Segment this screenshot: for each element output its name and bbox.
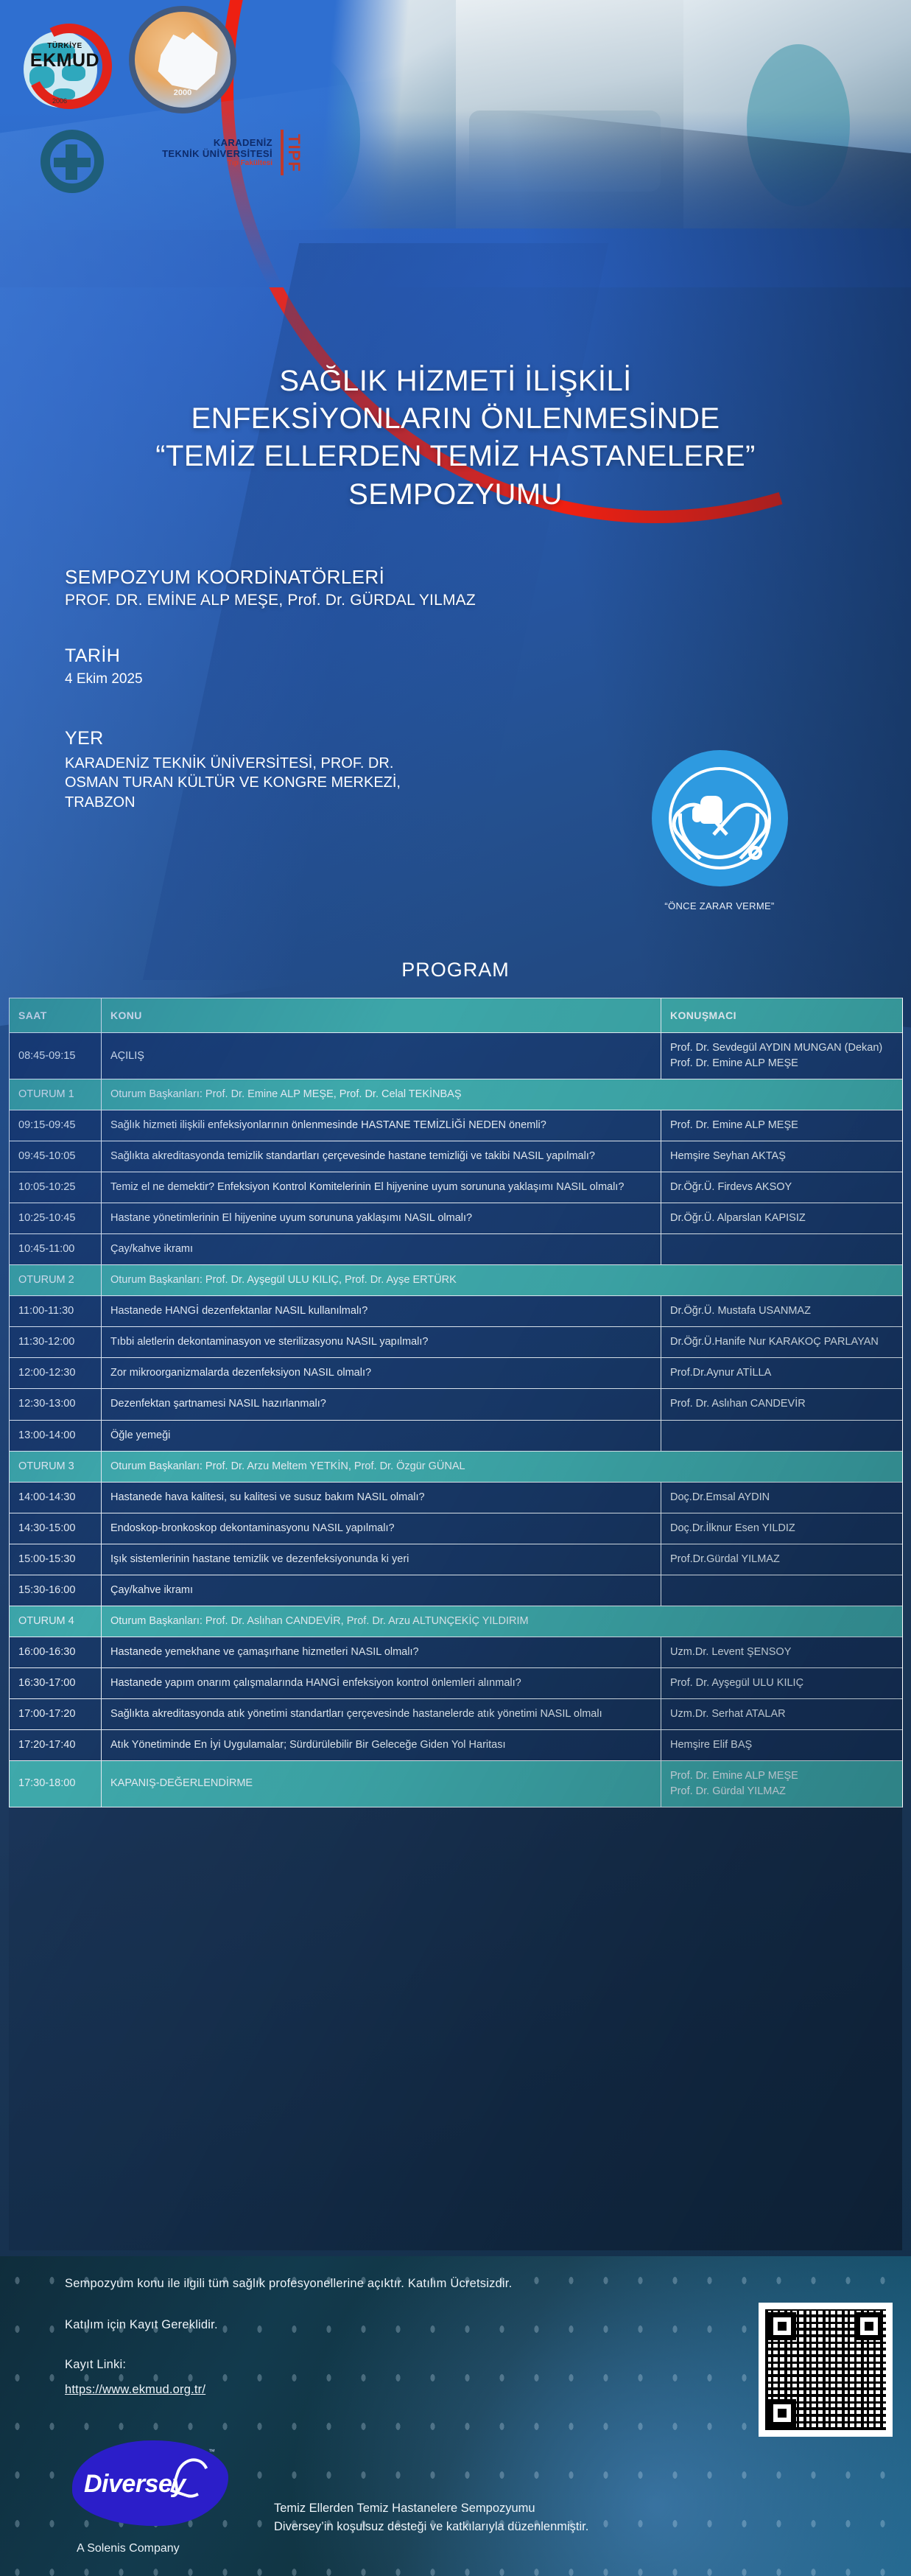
badge-caption: “ÖNCE ZARAR VERME”	[623, 900, 816, 911]
table-row: 14:30-15:00Endoskop-bronkoskop dekontami…	[10, 1513, 903, 1544]
table-row: 14:00-14:30Hastanede hava kalitesi, su k…	[10, 1482, 903, 1513]
cell-speaker: Dr.Öğr.Ü.Hanife Nur KARAKOÇ PARLAYAN	[661, 1327, 903, 1358]
program-table-wrapper: SAAT KONU KONUŞMACI 08:45-09:15AÇILIŞPro…	[9, 998, 902, 1807]
qr-finder-top-left	[768, 2312, 796, 2340]
cell-speaker	[661, 1420, 903, 1451]
cell-time: 16:00-16:30	[10, 1637, 102, 1667]
cell-topic: Hastanede yapım onarım çalışmalarında HA…	[102, 1667, 661, 1698]
handwash-icon	[154, 29, 223, 93]
cell-topic: Öğle yemeği	[102, 1420, 661, 1451]
cell-speaker: Dr.Öğr.Ü. Mustafa USANMAZ	[661, 1296, 903, 1327]
table-row: OTURUM 3Oturum Başkanları: Prof. Dr. Arz…	[10, 1451, 903, 1482]
table-row: 12:00-12:30Zor mikroorganizmalarda dezen…	[10, 1358, 903, 1389]
cell-topic: Zor mikroorganizmalarda dezenfeksiyon NA…	[102, 1358, 661, 1389]
table-row: OTURUM 2Oturum Başkanları: Prof. Dr. Ayş…	[10, 1265, 903, 1296]
date-value: 4 Ekim 2025	[65, 671, 143, 687]
cell-session-chairs: Oturum Başkanları: Prof. Dr. Emine ALP M…	[102, 1079, 903, 1110]
cell-time: 13:00-14:00	[10, 1420, 102, 1451]
title-block: SAĞLIK HİZMETİ İLİŞKİLİ ENFEKSİYONLARIN …	[0, 363, 911, 514]
diversey-logo: ™ Diversey	[72, 2440, 234, 2527]
cell-speaker: Dr.Öğr.Ü. Alparslan KAPISIZ	[661, 1203, 903, 1234]
ktu-line-1: KARADENİZ	[125, 137, 272, 148]
poster-root: TÜRKİYE EKMUD 2006 2000 KARADENİZ TEKNİK…	[0, 0, 911, 2576]
cell-topic: Sağlık hizmeti ilişkili enfeksiyonlarını…	[102, 1110, 661, 1141]
cell-topic: Işık sistemlerinin hastane temizlik ve d…	[102, 1544, 661, 1575]
cell-time: 17:20-17:40	[10, 1729, 102, 1760]
cell-speaker: Uzm.Dr. Serhat ATALAR	[661, 1698, 903, 1729]
cell-topic: Hastanede hava kalitesi, su kalitesi ve …	[102, 1482, 661, 1513]
cell-speaker: Prof.Dr.Aynur ATİLLA	[661, 1358, 903, 1389]
table-row: 12:30-13:00Dezenfektan şartnamesi NASIL …	[10, 1389, 903, 1420]
ekmud-logo-word: EKMUD	[25, 52, 105, 70]
cell-topic: Dezenfektan şartnamesi NASIL hazırlanmal…	[102, 1389, 661, 1420]
cell-speaker: Hemşire Seyhan AKTAŞ	[661, 1141, 903, 1172]
qr-finder-bottom-left	[768, 2399, 796, 2427]
cell-topic: Endoskop-bronkoskop dekontaminasyonu NAS…	[102, 1513, 661, 1544]
ktu-line-2: TEKNİK ÜNİVERSİTESİ	[125, 148, 272, 159]
ktu-divider	[281, 130, 284, 175]
table-row: 16:00-16:30Hastanede yemekhane ve çamaşı…	[10, 1637, 903, 1667]
cell-time: 14:30-15:00	[10, 1513, 102, 1544]
cell-speaker: Prof. Dr. Emine ALP MEŞE Prof. Dr. Gürda…	[661, 1760, 903, 1807]
ekmud-logo-sup: TÜRKİYE	[25, 42, 105, 50]
cell-speaker	[661, 1234, 903, 1265]
ktu-logo-text: KARADENİZ TEKNİK ÜNİVERSİTESİ Tıp Fakült…	[125, 137, 272, 167]
cell-speaker: Prof. Dr. Aslıhan CANDEVİR	[661, 1389, 903, 1420]
table-row: 13:00-14:00Öğle yemeği	[10, 1420, 903, 1451]
table-row: 15:00-15:30Işık sistemlerinin hastane te…	[10, 1544, 903, 1575]
date-label: TARİH	[65, 645, 143, 667]
cell-speaker: Dr.Öğr.Ü. Firdevs AKSOY	[661, 1172, 903, 1203]
diversey-tm-mark: ™	[208, 2448, 215, 2455]
ktu-tipf-mark: TIPF	[284, 134, 303, 172]
cell-topic: Atık Yönetiminde En İyi Uygulamalar; Sür…	[102, 1729, 661, 1760]
cell-time: OTURUM 1	[10, 1079, 102, 1110]
cell-time: 10:25-10:45	[10, 1203, 102, 1234]
cell-time: 15:00-15:30	[10, 1544, 102, 1575]
cell-speaker: Prof.Dr.Gürdal YILMAZ	[661, 1544, 903, 1575]
cell-speaker: Prof. Dr. Emine ALP MEŞE	[661, 1110, 903, 1141]
cell-time: 15:30-16:00	[10, 1575, 102, 1606]
cell-time: 10:45-11:00	[10, 1234, 102, 1265]
cell-time: 17:30-18:00	[10, 1760, 102, 1807]
table-row: 10:05-10:25Temiz el ne demektir? Enfeksi…	[10, 1172, 903, 1203]
cell-time: 09:15-09:45	[10, 1110, 102, 1141]
table-row: 15:30-16:00Çay/kahve ikramı	[10, 1575, 903, 1606]
cell-speaker: Doç.Dr.Emsal AYDIN	[661, 1482, 903, 1513]
cell-speaker: Doç.Dr.İlknur Esen YILDIZ	[661, 1513, 903, 1544]
stethoscope-dot-icon	[748, 846, 762, 860]
venue-label: YER	[65, 728, 411, 749]
ekmud-logo: TÜRKİYE EKMUD 2006	[16, 18, 113, 115]
cell-time: 11:30-12:00	[10, 1327, 102, 1358]
clean-hands-badge	[652, 750, 788, 886]
cell-topic: Sağlıkta akreditasyonda temizlik standar…	[102, 1141, 661, 1172]
cell-speaker: Uzm.Dr. Levent ŞENSOY	[661, 1637, 903, 1667]
ktu-bar2-icon	[54, 158, 91, 167]
coordinators-block: SEMPOZYUM KOORDİNATÖRLERİ PROF. DR. EMİN…	[65, 566, 728, 609]
cell-time: 11:00-11:30	[10, 1296, 102, 1327]
table-row: 17:30-18:00KAPANIŞ-DEĞERLENDİRMEProf. Dr…	[10, 1760, 903, 1807]
cell-time: OTURUM 3	[10, 1451, 102, 1482]
bg-sweep-center	[143, 243, 609, 980]
thikd-logo-year: 2000	[135, 88, 231, 97]
qr-finder-top-right	[855, 2312, 883, 2340]
table-row: OTURUM 1Oturum Başkanları: Prof. Dr. Emi…	[10, 1079, 903, 1110]
footer-open-note: Sempozyum konu ile ilgili tüm sağlık pro…	[65, 2277, 512, 2291]
cell-topic: Hastanede yemekhane ve çamaşırhane hizme…	[102, 1637, 661, 1667]
diversey-wordmark: Diversey	[84, 2470, 186, 2499]
footer-section: Sempozyum konu ile ilgili tüm sağlık pro…	[0, 2256, 911, 2576]
table-row: 08:45-09:15AÇILIŞProf. Dr. Sevdegül AYDI…	[10, 1033, 903, 1079]
table-row: 17:20-17:40Atık Yönetiminde En İyi Uygul…	[10, 1729, 903, 1760]
cell-session-chairs: Oturum Başkanları: Prof. Dr. Aslıhan CAN…	[102, 1606, 903, 1637]
cell-speaker	[661, 1575, 903, 1606]
cell-topic: Temiz el ne demektir? Enfeksiyon Kontrol…	[102, 1172, 661, 1203]
page-title: SAĞLIK HİZMETİ İLİŞKİLİ ENFEKSİYONLARIN …	[0, 363, 911, 514]
sponsor-note: Temiz Ellerden Temiz Hastanelere Sempozy…	[274, 2499, 588, 2536]
cell-speaker: Prof. Dr. Ayşegül ULU KILIÇ	[661, 1667, 903, 1698]
cell-session-chairs: Oturum Başkanları: Prof. Dr. Arzu Meltem…	[102, 1451, 903, 1482]
cell-topic: Hastane yönetimlerinin El hijyenine uyum…	[102, 1203, 661, 1234]
date-block: TARİH 4 Ekim 2025	[65, 645, 143, 687]
program-table-body: 08:45-09:15AÇILIŞProf. Dr. Sevdegül AYDI…	[10, 1033, 903, 1807]
qr-code[interactable]	[759, 2303, 893, 2437]
table-row: 09:45-10:05Sağlıkta akreditasyonda temiz…	[10, 1141, 903, 1172]
column-header-topic: KONU	[102, 998, 661, 1033]
cell-topic: Hastanede HANGİ dezenfektanlar NASIL kul…	[102, 1296, 661, 1327]
cell-topic: Çay/kahve ikramı	[102, 1234, 661, 1265]
cell-topic: AÇILIŞ	[102, 1033, 661, 1079]
footer-link-label: Kayıt Linki:	[65, 2358, 126, 2372]
cell-topic: KAPANIŞ-DEĞERLENDİRME	[102, 1760, 661, 1807]
cell-time: 08:45-09:15	[10, 1033, 102, 1079]
cell-time: OTURUM 4	[10, 1606, 102, 1637]
table-row: 09:15-09:45Sağlık hizmeti ilişkili enfek…	[10, 1110, 903, 1141]
cell-time: 12:00-12:30	[10, 1358, 102, 1389]
venue-block: YER KARADENİZ TEKNİK ÜNİVERSİTESİ, PROF.…	[65, 728, 411, 812]
cell-topic: Tıbbi aletlerin dekontaminasyon ve steri…	[102, 1327, 661, 1358]
ekmud-logo-year: 2006	[25, 97, 94, 105]
venue-value: KARADENİZ TEKNİK ÜNİVERSİTESİ, PROF. DR.…	[65, 754, 411, 812]
table-row: 11:30-12:00Tıbbi aletlerin dekontaminasy…	[10, 1327, 903, 1358]
cell-time: OTURUM 2	[10, 1265, 102, 1296]
cell-time: 10:05-10:25	[10, 1172, 102, 1203]
cell-speaker: Prof. Dr. Sevdegül AYDIN MUNGAN (Dekan) …	[661, 1033, 903, 1079]
table-row: OTURUM 4Oturum Başkanları: Prof. Dr. Asl…	[10, 1606, 903, 1637]
ktu-line-3: Tıp Fakültesi	[125, 159, 272, 167]
cell-session-chairs: Oturum Başkanları: Prof. Dr. Ayşegül ULU…	[102, 1265, 903, 1296]
solenis-tagline: A Solenis Company	[77, 2542, 180, 2555]
cell-topic: Çay/kahve ikramı	[102, 1575, 661, 1606]
cell-time: 14:00-14:30	[10, 1482, 102, 1513]
cell-topic: Sağlıkta akreditasyonda atık yönetimi st…	[102, 1698, 661, 1729]
table-row: 17:00-17:20Sağlıkta akreditasyonda atık …	[10, 1698, 903, 1729]
program-heading: PROGRAM	[0, 959, 911, 981]
table-row: 11:00-11:30Hastanede HANGİ dezenfektanla…	[10, 1296, 903, 1327]
cell-time: 17:00-17:20	[10, 1698, 102, 1729]
registration-link[interactable]: https://www.ekmud.org.tr/	[65, 2383, 205, 2397]
ktu-logo-mark	[41, 130, 104, 193]
cell-speaker: Hemşire Elif BAŞ	[661, 1729, 903, 1760]
program-table: SAAT KONU KONUŞMACI 08:45-09:15AÇILIŞPro…	[9, 998, 903, 1807]
column-header-speaker: KONUŞMACI	[661, 998, 903, 1033]
coordinators-label: SEMPOZYUM KOORDİNATÖRLERİ	[65, 566, 728, 589]
table-row: 10:25-10:45Hastane yönetimlerinin El hij…	[10, 1203, 903, 1234]
column-header-time: SAAT	[10, 998, 102, 1033]
table-row: 10:45-11:00Çay/kahve ikramı	[10, 1234, 903, 1265]
footer-registration-note: Katılım için Kayıt Gereklidir.	[65, 2318, 218, 2332]
program-table-header-row: SAAT KONU KONUŞMACI	[10, 998, 903, 1033]
table-row: 16:30-17:00Hastanede yapım onarım çalışm…	[10, 1667, 903, 1698]
cell-time: 16:30-17:00	[10, 1667, 102, 1698]
thikd-logo: 2000	[129, 6, 236, 113]
cell-time: 12:30-13:00	[10, 1389, 102, 1420]
coordinators-value: PROF. DR. EMİNE ALP MEŞE, Prof. Dr. GÜRD…	[65, 592, 728, 609]
cell-time: 09:45-10:05	[10, 1141, 102, 1172]
